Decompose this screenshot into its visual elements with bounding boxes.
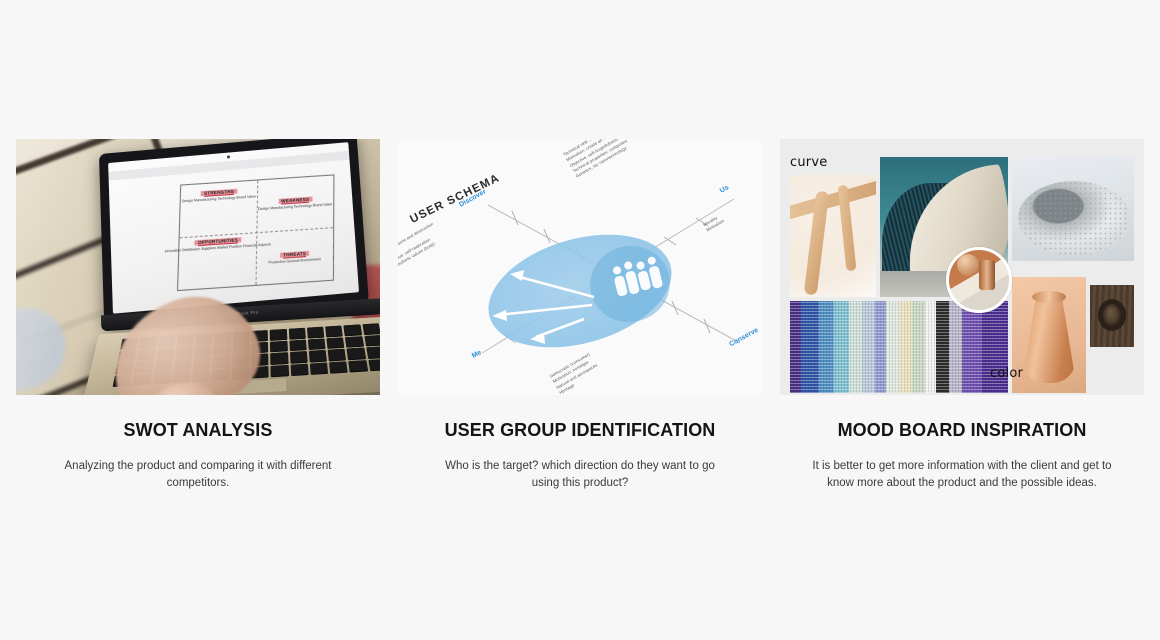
tile-wooden-chair-joint bbox=[790, 175, 876, 297]
swot-quadrant-strengths: STRENGTHS Design Manufacturing Technolog… bbox=[180, 181, 258, 238]
quadrant-items: Design Manufacturing Technology Brand Va… bbox=[258, 202, 332, 212]
laptop-lid: STRENGTHS Design Manufacturing Technolog… bbox=[99, 139, 369, 326]
laptop: STRENGTHS Design Manufacturing Technolog… bbox=[73, 139, 380, 395]
laptop-screen: STRENGTHS Design Manufacturing Technolog… bbox=[108, 142, 359, 314]
quadrant-title: THREATS bbox=[281, 251, 310, 258]
swot-laptop-photo[interactable]: STRENGTHS Design Manufacturing Technolog… bbox=[16, 139, 380, 395]
card-title: USER GROUP IDENTIFICATION bbox=[398, 420, 762, 442]
quadrant-items: Design Manufacturing Technology Brand Va… bbox=[182, 195, 256, 205]
swot-quadrant-opportunities: OPPORTUNITIES Innovation Distribution Su… bbox=[178, 232, 256, 290]
mood-label-color: color bbox=[990, 366, 1023, 381]
caption-user-group-identification: USER GROUP IDENTIFICATION Who is the tar… bbox=[398, 420, 762, 493]
card-description: It is better to get more information wit… bbox=[812, 458, 1112, 494]
tile-dark-wood-oval-handle bbox=[1090, 285, 1134, 347]
user-schema-diagram[interactable]: USER SCHEMA Discover Us Me Conserve Tech… bbox=[398, 139, 762, 395]
caption-mood-board-inspiration: MOOD BOARD INSPIRATION It is better to g… bbox=[780, 420, 1144, 493]
quadrant-items: Production General Environment bbox=[269, 257, 321, 266]
mood-board-collage[interactable]: curve color bbox=[780, 139, 1144, 395]
swot-quadrant-threats: THREATS Production General Environment bbox=[256, 227, 334, 285]
webcam-icon bbox=[227, 155, 230, 158]
tile-copper-detail-callout bbox=[946, 247, 1012, 313]
collage-grid: curve color bbox=[786, 149, 1138, 381]
card-caption-row: SWOT ANALYSIS Analyzing the product and … bbox=[0, 420, 1160, 493]
mood-label-curve: curve bbox=[790, 155, 827, 170]
card-mood-board-inspiration[interactable]: curve color bbox=[780, 139, 1144, 395]
card-thumbnail-row: STRENGTHS Design Manufacturing Technolog… bbox=[0, 139, 1160, 395]
tile-dotted-texture-form bbox=[1012, 157, 1134, 261]
tile-fabric-color-swatches bbox=[790, 301, 1008, 393]
card-description: Analyzing the product and comparing it w… bbox=[48, 458, 348, 494]
page-root: STRENGTHS Design Manufacturing Technolog… bbox=[0, 0, 1160, 640]
card-title: SWOT ANALYSIS bbox=[16, 420, 380, 442]
card-swot-analysis[interactable]: STRENGTHS Design Manufacturing Technolog… bbox=[16, 139, 380, 395]
card-title: MOOD BOARD INSPIRATION bbox=[780, 420, 1144, 442]
swot-quadrant-weakness: WEAKNESS Design Manufacturing Technology… bbox=[257, 176, 334, 233]
card-user-group-identification[interactable]: USER SCHEMA Discover Us Me Conserve Tech… bbox=[398, 139, 762, 395]
tile-copper-lamp bbox=[1012, 277, 1086, 393]
swot-matrix: STRENGTHS Design Manufacturing Technolog… bbox=[177, 175, 335, 291]
card-description: Who is the target? which direction do th… bbox=[430, 458, 730, 494]
caption-swot-analysis: SWOT ANALYSIS Analyzing the product and … bbox=[16, 420, 380, 493]
